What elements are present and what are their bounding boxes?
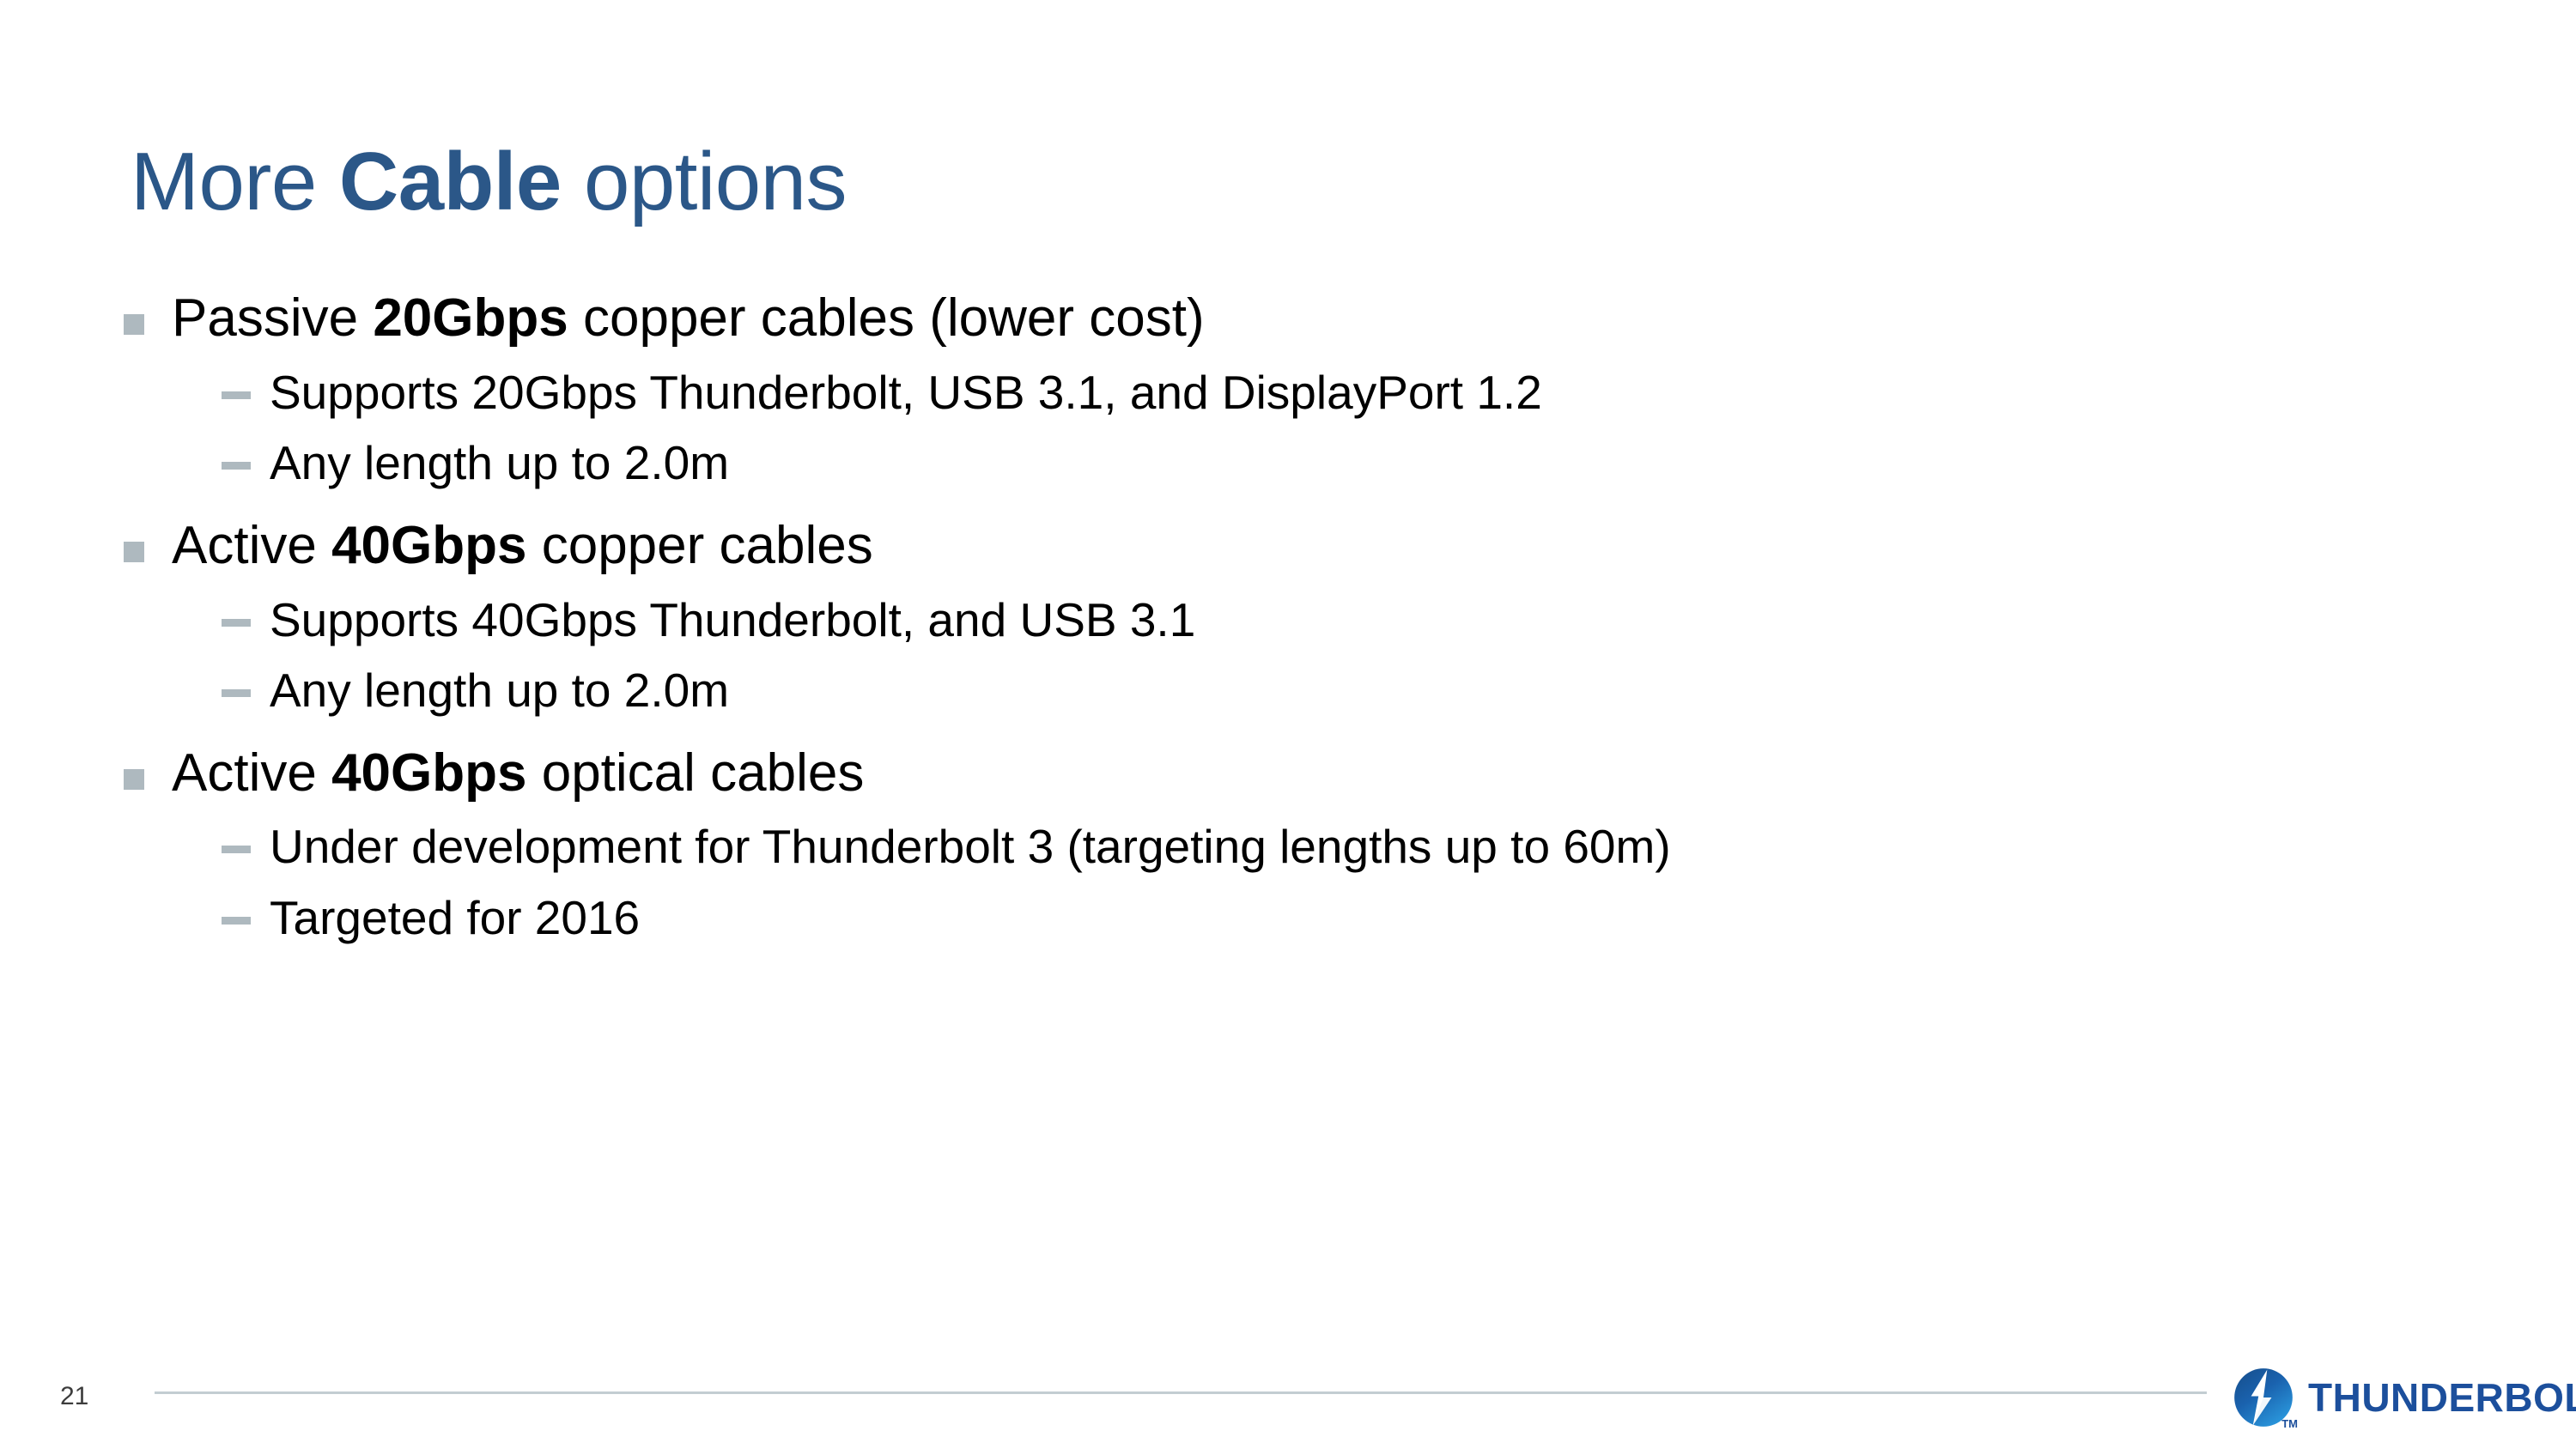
page-number: 21 <box>60 1382 88 1411</box>
list-item-emphasis: 20Gbps <box>373 288 568 348</box>
slide-canvas: More Cable options Passive 20Gbps copper… <box>0 0 2576 1449</box>
list-item-level2: Supports 40Gbps Thunderbolt, and USB 3.1 <box>120 585 2507 656</box>
square-bullet-icon <box>124 542 144 562</box>
list-item-suffix: optical cables <box>526 743 864 803</box>
bullet-group: Active 40Gbps copper cables Supports 40G… <box>120 511 2507 726</box>
badge-trademark-symbol: TM <box>2281 1417 2298 1430</box>
page-title-emphasis: Cable <box>339 136 562 227</box>
dash-bullet-icon <box>222 619 251 627</box>
list-item-emphasis: 40Gbps <box>331 743 526 803</box>
list-item-suffix: copper cables (lower cost) <box>568 288 1205 348</box>
list-item-label: Any length up to 2.0m <box>270 436 729 489</box>
slide-footer: 21 TM TH <box>0 1346 2576 1449</box>
bullet-group: Passive 20Gbps copper cables (lower cost… <box>120 283 2507 499</box>
list-item-level2: Under development for Thunderbolt 3 (tar… <box>120 811 2507 882</box>
list-item-level2: Supports 20Gbps Thunderbolt, USB 3.1, an… <box>120 357 2507 428</box>
list-item-label: Targeted for 2016 <box>270 891 640 944</box>
bullet-list: Passive 20Gbps copper cables (lower cost… <box>120 283 2507 965</box>
list-item-level2: Any length up to 2.0m <box>120 427 2507 499</box>
list-item-label: Supports 20Gbps Thunderbolt, USB 3.1, an… <box>270 366 1542 419</box>
list-item-level2: Any length up to 2.0m <box>120 655 2507 726</box>
dash-bullet-icon <box>222 462 251 470</box>
square-bullet-icon <box>124 769 144 790</box>
list-item-level1: Active 40Gbps optical cables <box>120 738 2507 809</box>
list-item-level2: Targeted for 2016 <box>120 882 2507 954</box>
page-title-prefix: More <box>131 136 339 227</box>
list-item-prefix: Passive <box>172 288 373 348</box>
list-item-prefix: Active <box>172 516 331 575</box>
thunderbolt-wordmark: THUNDERBOLTTM <box>2308 1378 2576 1417</box>
list-item-prefix: Active <box>172 743 331 803</box>
list-item-emphasis: 40Gbps <box>331 516 526 575</box>
thunderbolt-wordmark-text: THUNDERBOLT <box>2308 1375 2576 1420</box>
list-item-suffix: copper cables <box>526 516 872 575</box>
list-item-level1: Active 40Gbps copper cables <box>120 511 2507 581</box>
page-title: More Cable options <box>131 137 847 227</box>
dash-bullet-icon <box>222 917 251 925</box>
page-title-suffix: options <box>562 136 847 227</box>
footer-divider <box>155 1391 2207 1394</box>
dash-bullet-icon <box>222 391 251 399</box>
list-item-label: Any length up to 2.0m <box>270 664 729 717</box>
list-item-level1: Passive 20Gbps copper cables (lower cost… <box>120 283 2507 354</box>
dash-bullet-icon <box>222 689 251 697</box>
list-item-label: Under development for Thunderbolt 3 (tar… <box>270 820 1671 873</box>
square-bullet-icon <box>124 314 144 335</box>
bullet-group: Active 40Gbps optical cables Under devel… <box>120 738 2507 954</box>
thunderbolt-logo: TM THUNDERBOLTTM <box>2233 1356 2576 1439</box>
list-item-label: Supports 40Gbps Thunderbolt, and USB 3.1 <box>270 593 1195 646</box>
thunderbolt-bolt-icon: TM <box>2233 1367 2294 1428</box>
dash-bullet-icon <box>222 846 251 853</box>
